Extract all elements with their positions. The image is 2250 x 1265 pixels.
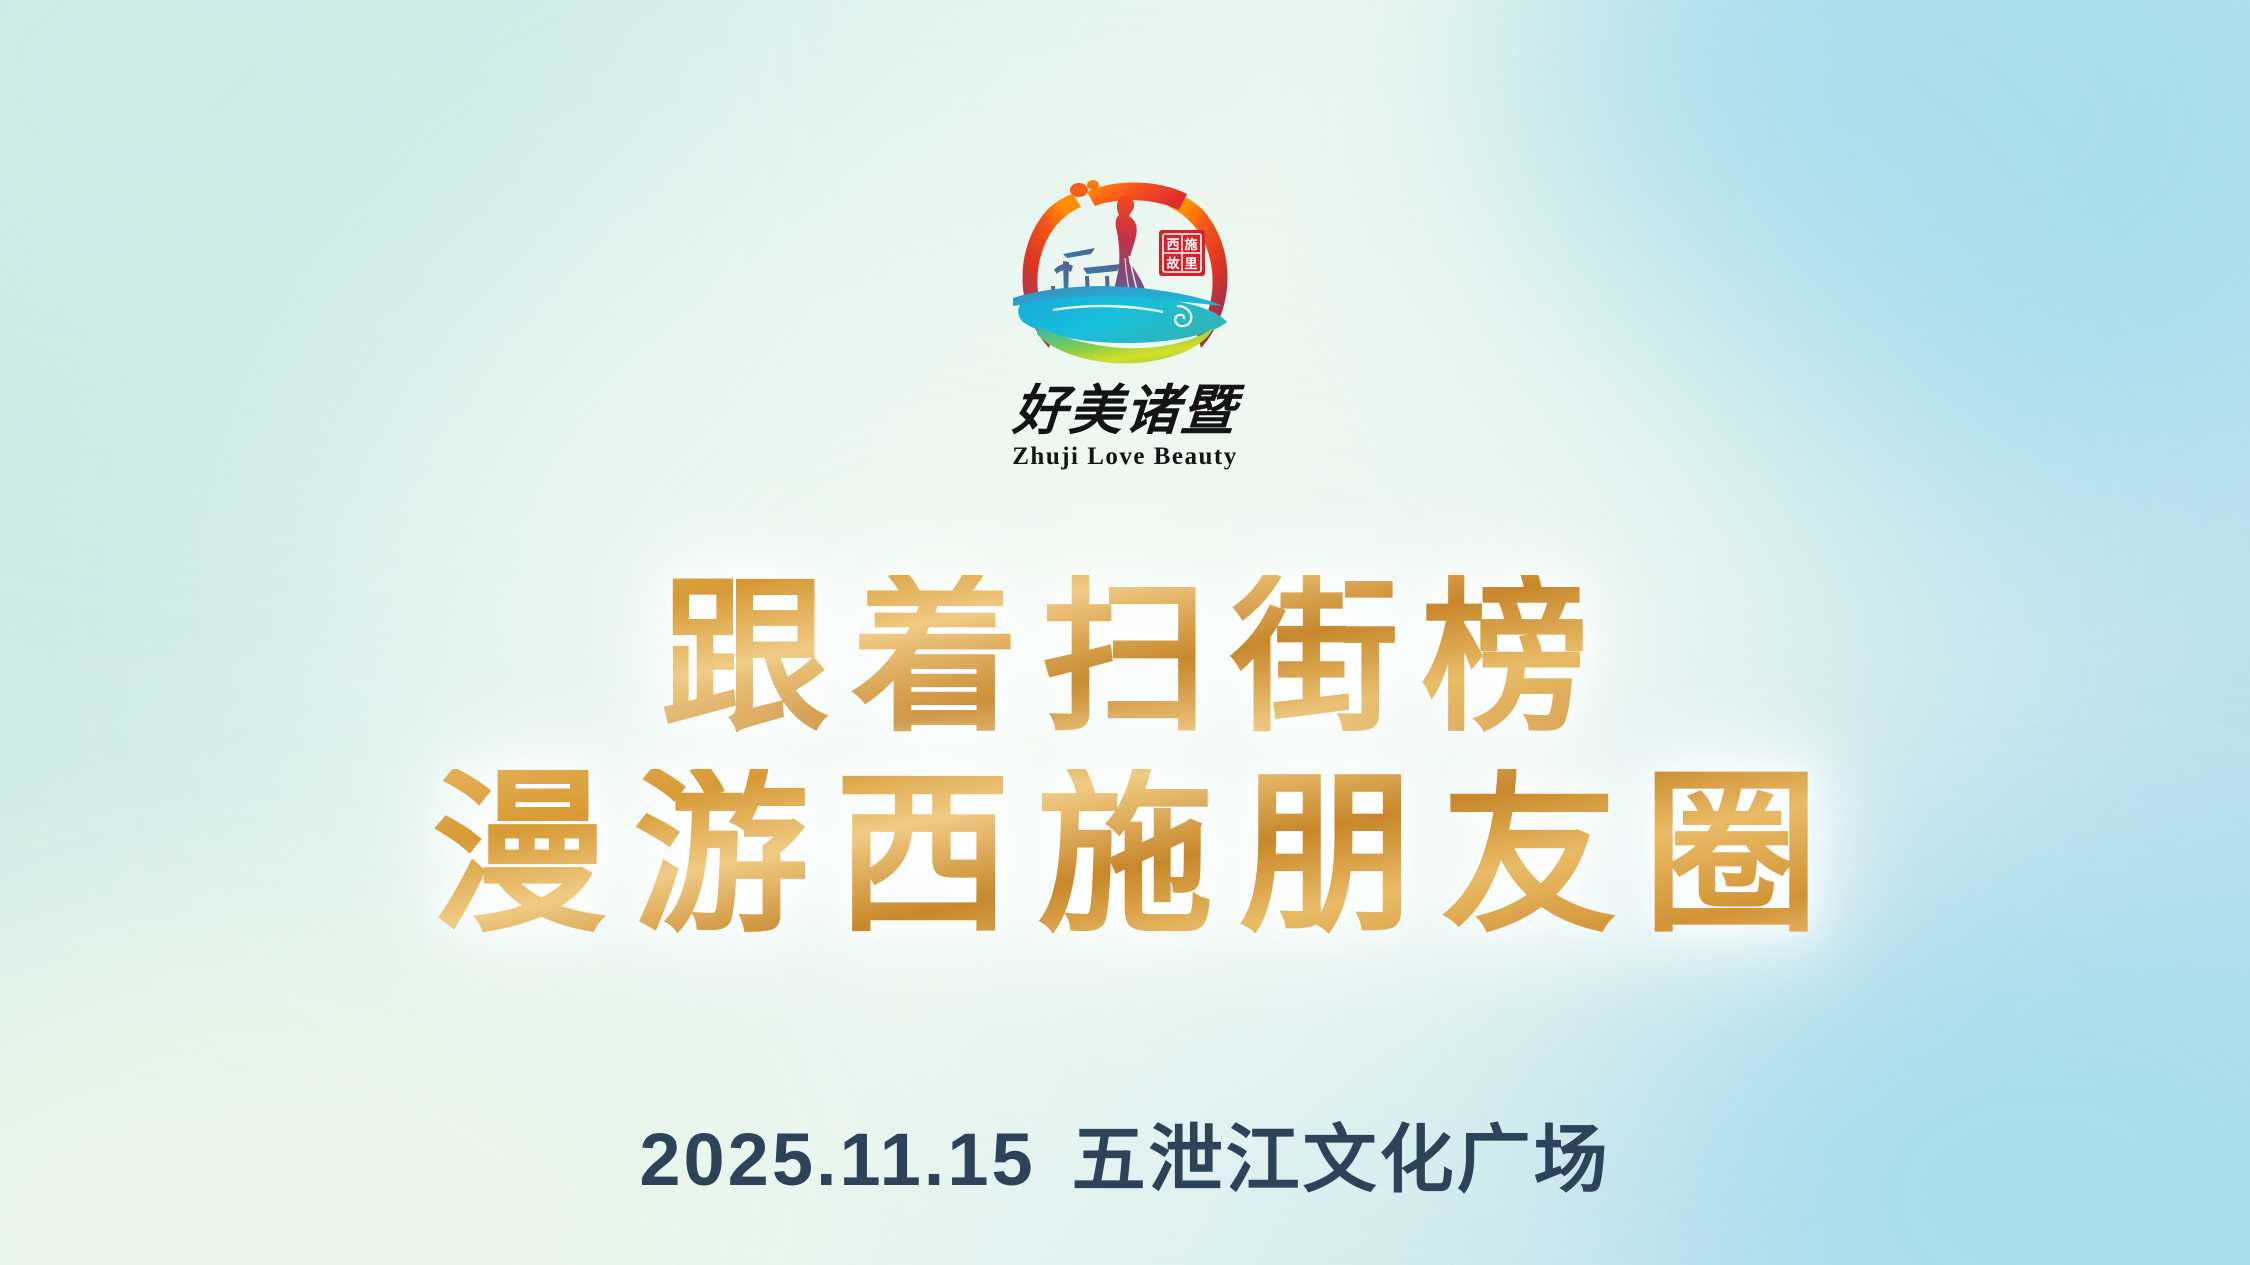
logo-arc-dot-a	[1070, 183, 1088, 197]
logo-pavilion-roof-a	[1063, 248, 1095, 258]
svg-text:西: 西	[1166, 237, 1179, 252]
logo-english-name: Zhuji Love Beauty	[960, 443, 1290, 471]
title-line-1: 跟着扫街榜	[0, 575, 2250, 743]
event-date-venue: 2025.11.15五泄江文化广场	[0, 1100, 2250, 1207]
svg-text:故: 故	[1166, 256, 1180, 271]
zhuji-love-beauty-emblem-icon: 西 施 故 里	[991, 158, 1259, 388]
svg-text:施: 施	[1184, 237, 1197, 252]
background-blob-bottom-left	[0, 905, 740, 1265]
poster-title: 跟着扫街榜 漫游西施朋友圈	[0, 575, 2250, 945]
logo-pavilion-roof-b	[1083, 264, 1121, 274]
title-line-2: 漫游西施朋友圈	[0, 769, 2250, 945]
svg-text:里: 里	[1184, 256, 1197, 271]
logo-chinese-name: 好美诸暨	[958, 384, 1292, 439]
poster-canvas: 西 施 故 里 好美诸暨 Zhuji Love Beauty 跟着扫街榜 漫游西…	[0, 0, 2250, 1265]
event-venue: 五泄江文化广场	[1072, 1118, 1611, 1201]
logo-arc-top	[1087, 183, 1187, 211]
background-blob-top-left	[0, 0, 600, 400]
event-date: 2025.11.15	[639, 1118, 1035, 1201]
logo-seal-stamp: 西 施 故 里	[1159, 230, 1205, 276]
logo-arc-dot-b	[1087, 180, 1099, 190]
brand-logo: 西 施 故 里 好美诸暨 Zhuji Love Beauty	[960, 158, 1290, 471]
background-blob-top-right	[1530, 0, 2250, 500]
